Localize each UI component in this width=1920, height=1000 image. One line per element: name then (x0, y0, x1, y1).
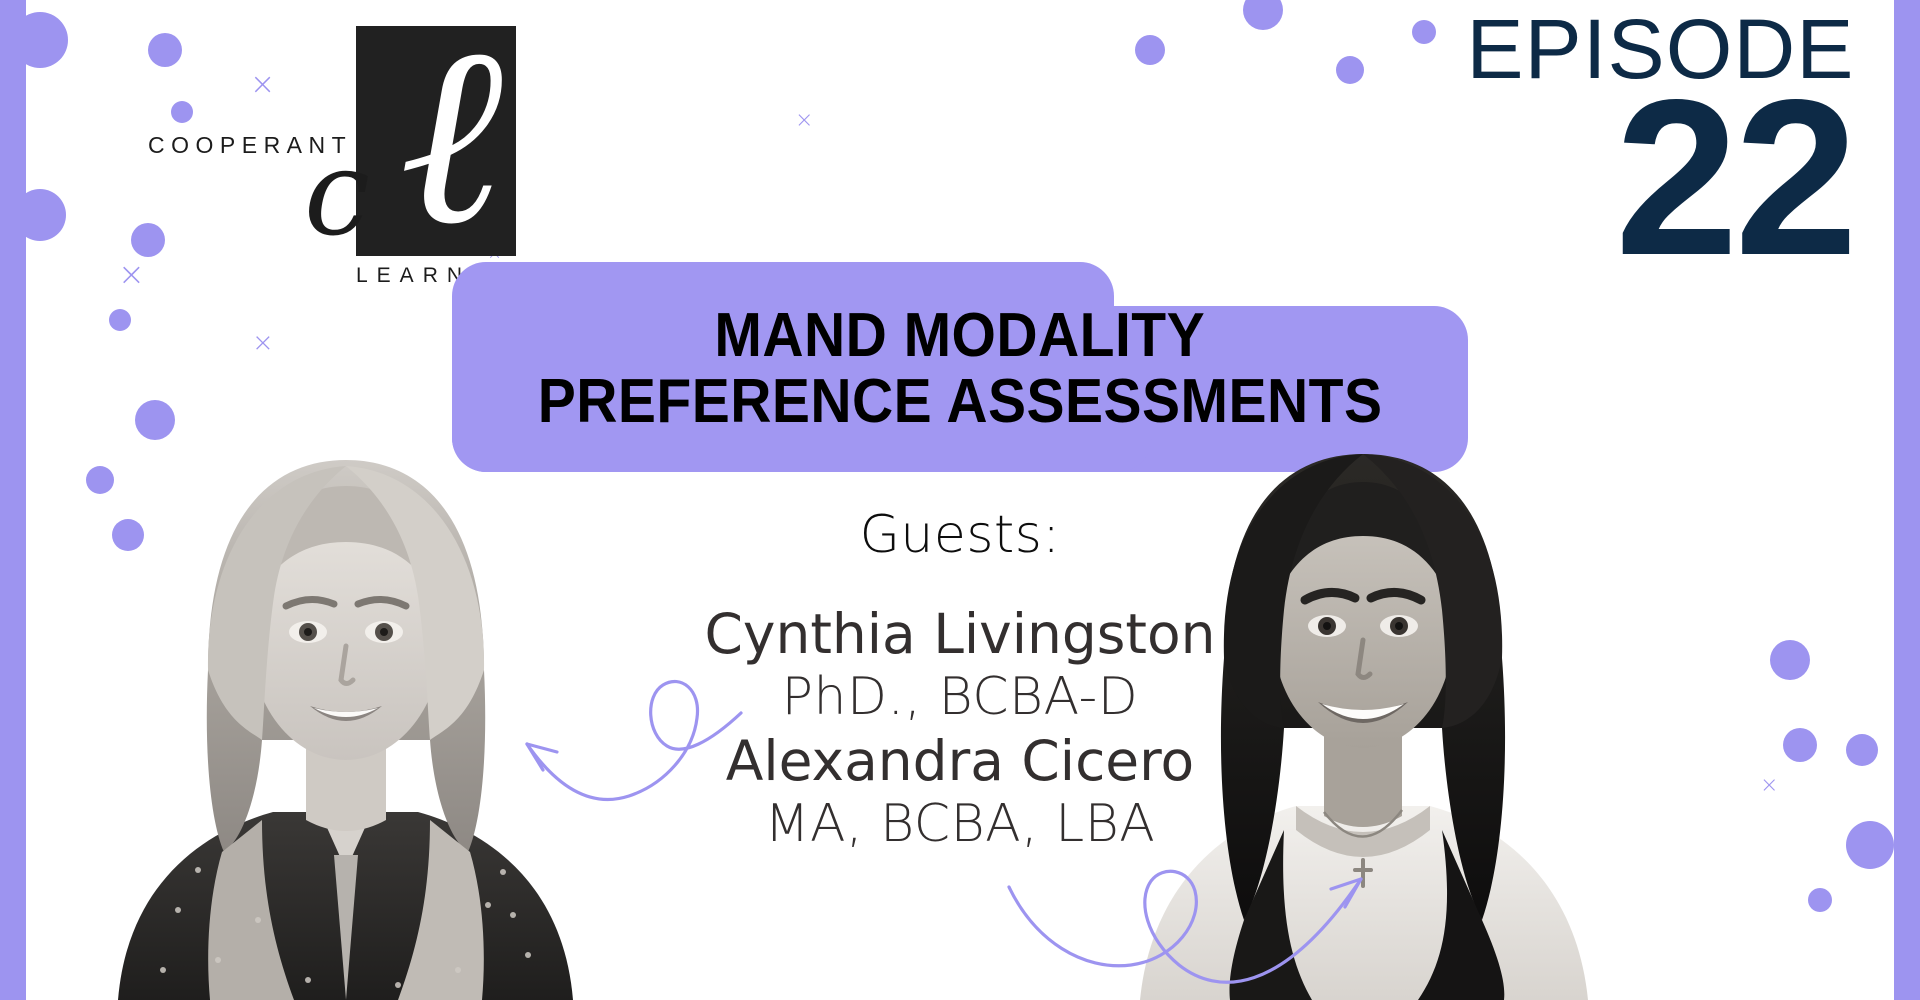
decorative-cross-icon: × (118, 258, 145, 290)
edge-bar-left (0, 0, 26, 1000)
edge-bar-right (1894, 0, 1920, 1000)
episode-badge: EPISODE 22 (1474, 10, 1854, 270)
logo-monogram-l: ℓ (376, 10, 526, 260)
decorative-dot (1135, 35, 1165, 65)
title-line-2: PREFERENCE ASSESSMENTS (538, 369, 1383, 435)
decorative-dot (1412, 20, 1436, 44)
decorative-cross-icon: × (795, 110, 813, 132)
cooperant-learning-logo: COOPERANT c ℓ LEARNING (148, 14, 548, 304)
decorative-dot (1336, 56, 1364, 84)
title-text-group: MAND MODALITY PREFERENCE ASSESSMENTS (452, 262, 1468, 472)
episode-cover-canvas: ××××××× COOPERANT c ℓ LEARNING EPISODE 2… (0, 0, 1920, 1000)
decorative-dot (1808, 888, 1832, 912)
curly-arrow-right-icon (995, 855, 1395, 1000)
decorative-dot (1243, 0, 1283, 30)
decorative-dot (109, 309, 131, 331)
decorative-cross-icon: × (252, 330, 274, 356)
title-banner: MAND MODALITY PREFERENCE ASSESSMENTS (452, 262, 1468, 472)
episode-number: 22 (1474, 86, 1854, 270)
title-line-1: MAND MODALITY (715, 303, 1206, 369)
episode-label: EPISODE (1466, 10, 1854, 90)
curly-arrow-left-icon (495, 660, 745, 820)
logo-monogram-c: c (304, 134, 370, 252)
